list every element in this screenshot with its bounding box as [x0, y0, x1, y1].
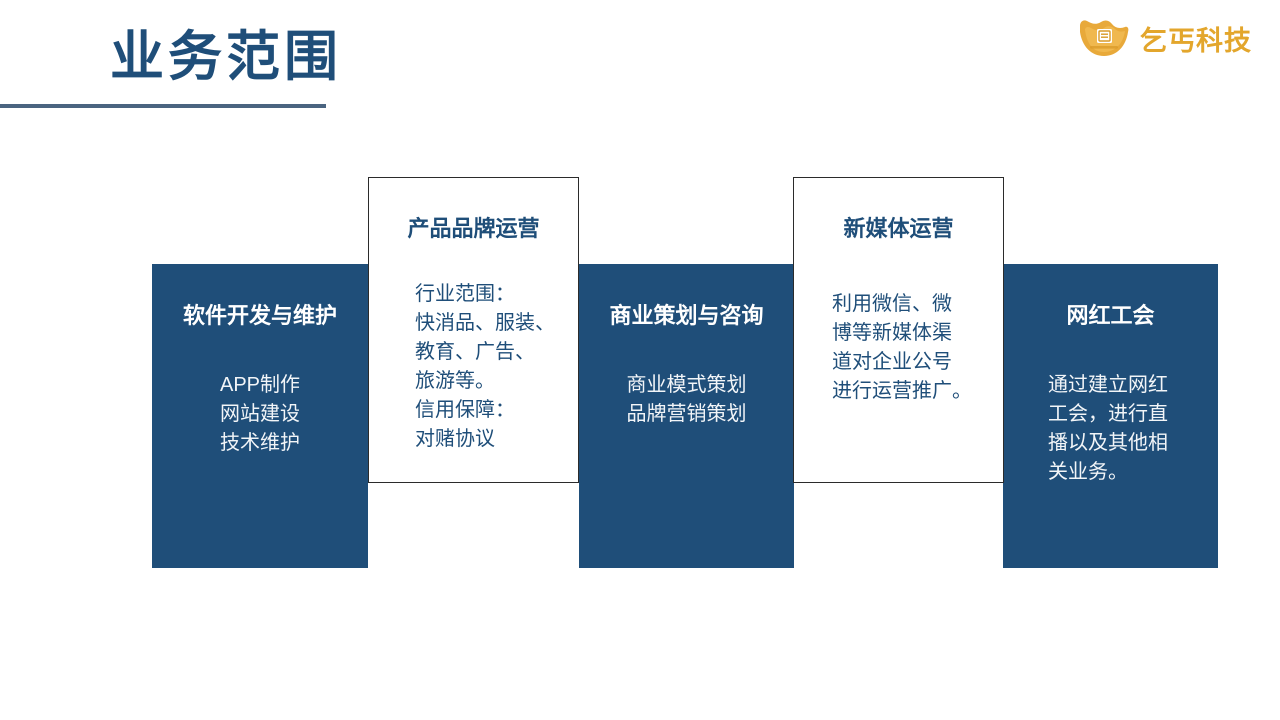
- card-body: 行业范围： 快消品、服装、 教育、广告、 旅游等。 信用保障： 对赌协议: [415, 280, 578, 454]
- card-body: 利用微信、微 博等新媒体渠 道对企业公号 进行运营推广。: [832, 290, 1003, 406]
- card-body: 通过建立网红 工会，进行直 播以及其他相 关业务。: [1048, 371, 1217, 487]
- card-title: 商业策划与咨询: [580, 303, 793, 329]
- business-scope-card-row: 软件开发与维护 APP制作 网站建设 技术维护 产品品牌运营 行业范围： 快消品…: [0, 0, 1280, 720]
- scope-card-product-brand-operation[interactable]: 产品品牌运营 行业范围： 快消品、服装、 教育、广告、 旅游等。 信用保障： 对…: [368, 177, 579, 483]
- card-title: 软件开发与维护: [153, 303, 367, 329]
- scope-card-new-media-operation[interactable]: 新媒体运营 利用微信、微 博等新媒体渠 道对企业公号 进行运营推广。: [793, 177, 1004, 483]
- card-body: 商业模式策划 品牌营销策划: [580, 371, 793, 429]
- scope-card-influencer-union[interactable]: 网红工会 通过建立网红 工会，进行直 播以及其他相 关业务。: [1003, 264, 1218, 568]
- scope-card-business-planning-consulting[interactable]: 商业策划与咨询 商业模式策划 品牌营销策划: [579, 264, 794, 568]
- card-body: APP制作 网站建设 技术维护: [153, 371, 367, 458]
- card-title: 网红工会: [1004, 303, 1217, 329]
- scope-card-software-development[interactable]: 软件开发与维护 APP制作 网站建设 技术维护: [152, 264, 368, 568]
- card-title: 新媒体运营: [794, 216, 1003, 242]
- card-title: 产品品牌运营: [369, 216, 578, 242]
